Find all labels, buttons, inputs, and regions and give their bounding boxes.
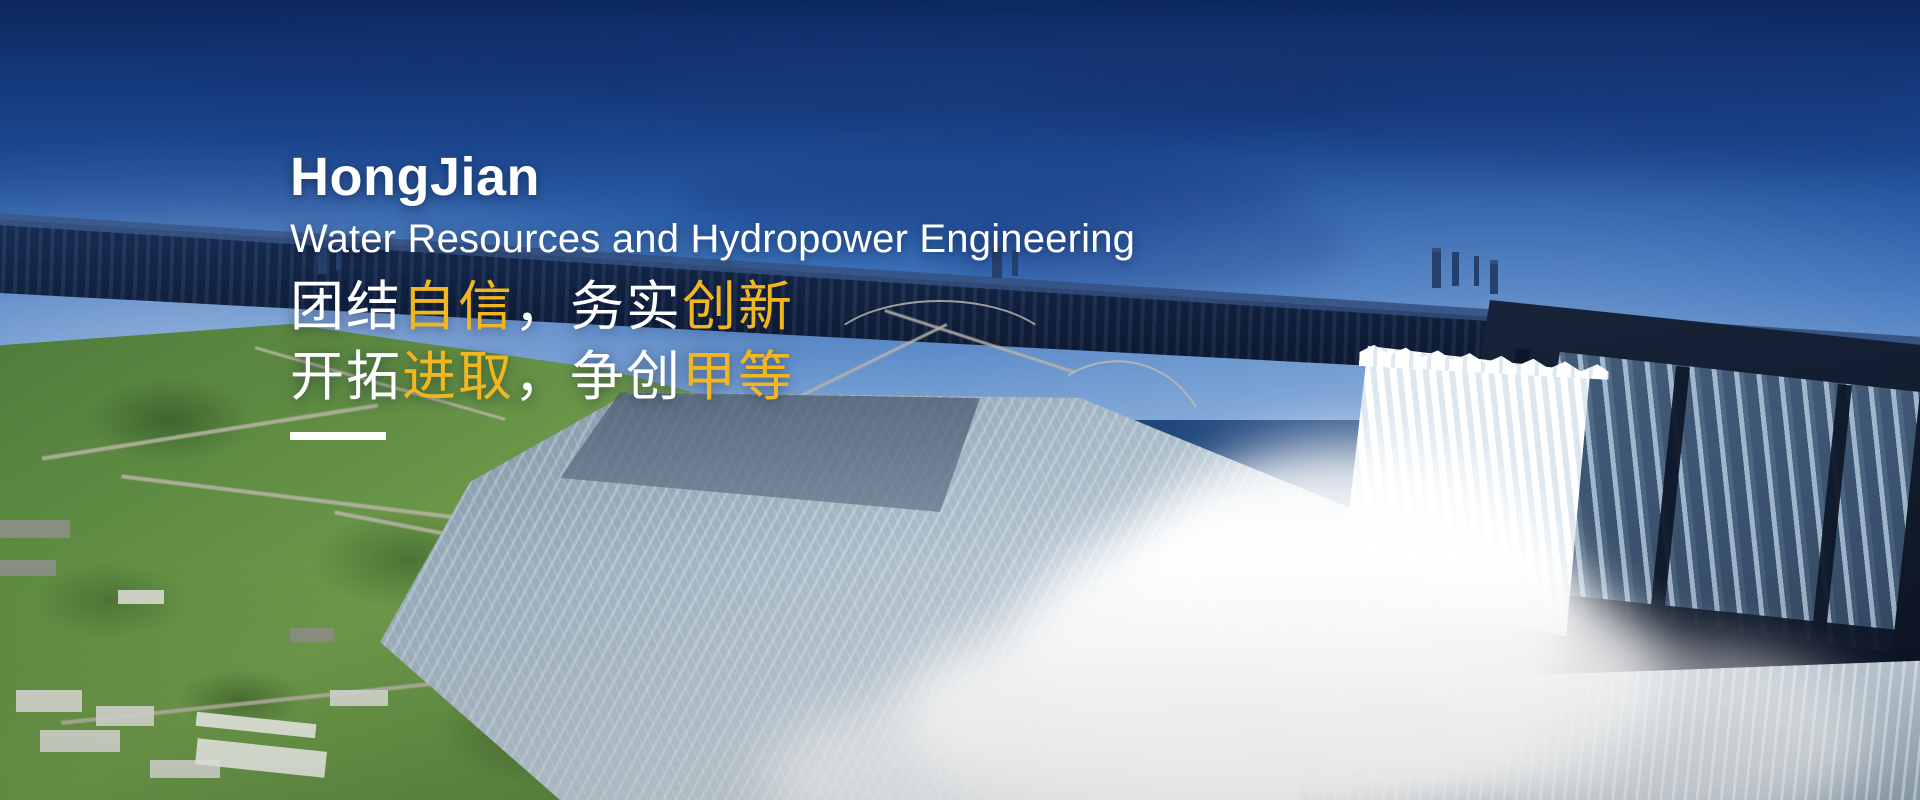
accent-divider-bar bbox=[290, 432, 386, 440]
slogan-line-1: 团结自信，务实创新 bbox=[290, 272, 1290, 342]
slogan-l2-part-1: 开拓 bbox=[290, 347, 402, 407]
hero-copy-block: HongJian Water Resources and Hydropower … bbox=[290, 150, 1290, 440]
slogan-l1-part-3: ，务实 bbox=[514, 277, 682, 337]
slogan-l2-part-2: 进取 bbox=[402, 347, 514, 407]
slogan-l2-part-3: ，争创 bbox=[514, 347, 682, 407]
slogan-l1-part-2: 自信 bbox=[402, 277, 514, 337]
brand-title: HongJian bbox=[290, 150, 1290, 204]
slogan-l1-part-4: 创新 bbox=[682, 277, 794, 337]
slogan-l1-part-1: 团结 bbox=[290, 277, 402, 337]
hero-banner: HongJian Water Resources and Hydropower … bbox=[0, 0, 1920, 800]
slogan-l2-part-4: 甲等 bbox=[682, 347, 794, 407]
slogan-line-2: 开拓进取，争创甲等 bbox=[290, 342, 1290, 412]
brand-tagline-english: Water Resources and Hydropower Engineeri… bbox=[290, 216, 1290, 262]
